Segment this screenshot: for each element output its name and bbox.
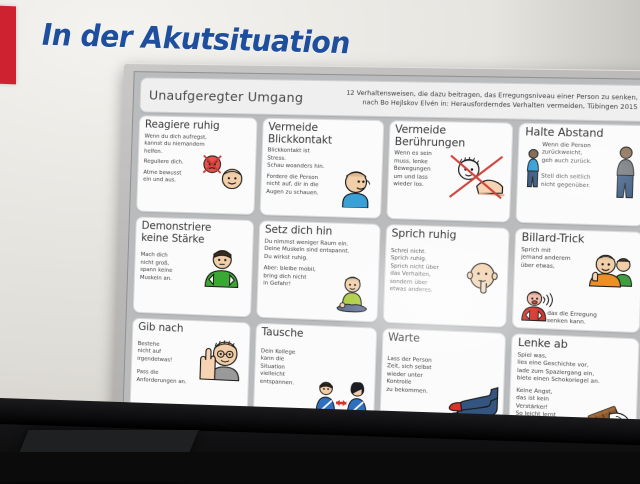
card-body: Du nimmst weniger Raum ein. Deine Muskel… [262,238,373,319]
card-title: Billard-Trick [521,232,636,248]
card-body: Mach dich nicht groß, spann keine Muskel… [139,246,247,314]
card-text: Dein Kollege kann die Situation vielleic… [260,348,321,389]
card-title: Vermeide Blickkontakt [268,122,378,148]
card-text: Aber: bleibe mobil, bring dich nicht in … [263,265,323,290]
card-setz-dich-hin[interactable]: Setz dich hin Du nimmst weniger Raum ein… [256,220,380,322]
card-title: Vermeide Berührungen [394,124,507,150]
display-screen: Unaufgeregter Umgang 12 Verhaltensweisen… [112,63,640,456]
card-billard-trick[interactable]: Billard-Trick Sprich mit jemand anderem … [512,228,640,333]
card-reagiere-ruhig[interactable]: Reagiere ruhig Wenn du dich aufregst, ka… [136,115,257,215]
card-text: Bestehe nicht auf irgendetwas! [137,340,196,365]
card-text: Spiel was, lies eine Geschichte vor, lad… [517,352,633,389]
card-text: Wenn es sein muss, lenke Bewegungen um u… [393,150,455,190]
card-text: Wenn die Person zurückweicht, geh auch z… [542,141,625,167]
card-sprich-ruhig[interactable]: Sprich ruhig Schrei nicht. Sprich ruhig.… [382,224,510,328]
card-body: Wenn die Person zurückweicht, geh auch z… [522,141,640,223]
card-text: Sprich mit jemand anderem über etwas, [521,246,585,272]
small-person-icon [524,147,542,192]
card-halte-abstand[interactable]: Halte Abstand Wenn die Person zurückweic… [516,123,640,227]
card-body: Blickkontakt ist Stress. Schau woanders … [266,147,377,215]
calm-face-icon [218,165,246,197]
card-title: Halte Abstand [525,127,640,141]
card-text: Schrei nicht. Sprich ruhig. Sprich nicht… [390,247,453,296]
person-sitting-cross-legged-icon [333,276,370,319]
person-hands-on-hips-icon [201,248,243,295]
floor-shadow [0,452,640,482]
card-text: Pass die Anforderungen an. [136,369,194,387]
card-title: Setz dich hin [265,224,374,239]
hand-touching-head-crossed-out-icon [446,153,506,207]
card-text: Atme bewusst ein und aus. [143,169,220,186]
card-text: Reguliere dich. [144,159,220,168]
card-text: Stell dich seitlich nicht gegenüber. [541,173,624,191]
slide-header: Unaufgeregter Umgang 12 Verhaltensweisen… [139,77,640,122]
card-text: Lass der Person Zeit, sich selbst wieder… [386,355,448,397]
card-demonstriere-keine-staerke[interactable]: Demonstriere keine Stärke Mach dich nich… [133,217,254,318]
card-text: das die Erregung senken kann. [547,311,597,329]
card-body: Wenn es sein muss, lenke Bewegungen um u… [392,150,506,219]
two-people-talking-icon [584,251,636,294]
card-title: Reagiere ruhig [145,119,251,133]
person-looking-away-icon [337,166,374,213]
card-text: Blickkontakt ist Stress. Schau woanders … [267,147,327,171]
screen-bezel: Unaufgeregter Umgang 12 Verhaltensweisen… [112,63,640,456]
behaviour-card-grid: Reagiere ruhig Wenn du dich aufregst, ka… [123,115,640,445]
slide-header-subtitle: 12 Verhaltensweisen, die dazu beitragen,… [313,88,638,113]
card-text: Fordere die Person nicht auf, dir in die… [266,173,326,198]
card-body: Schrei nicht. Sprich ruhig. Sprich nicht… [389,242,503,324]
slide-content: Unaufgeregter Umgang 12 Verhaltensweisen… [122,71,640,446]
card-text: Mach dich nicht groß, spann keine Muskel… [140,252,199,284]
slide-header-title: Unaufgeregter Umgang [149,87,314,105]
card-vermeide-blickkontakt[interactable]: Vermeide Blickkontakt Blickkontakt ist S… [259,118,384,219]
card-text: Wenn du dich aufregst, kannst du niemand… [144,133,221,157]
card-body: Wenn du dich aufregst, kannst du niemand… [142,133,250,212]
card-title: Demonstriere keine Stärke [141,221,248,248]
card-vermeide-beruehrungen[interactable]: Vermeide Berührungen Wenn es sein muss, … [386,120,514,222]
face-finger-on-lips-icon [464,257,502,299]
person-raised-hand-icon [193,337,243,387]
card-body: Sprich mit jemand anderem über etwas, da… [519,246,636,329]
card-text: Du nimmst weniger Raum ein. Deine Muskel… [264,238,374,265]
red-accent-block [0,6,16,85]
card-title: Sprich ruhig [391,228,503,243]
